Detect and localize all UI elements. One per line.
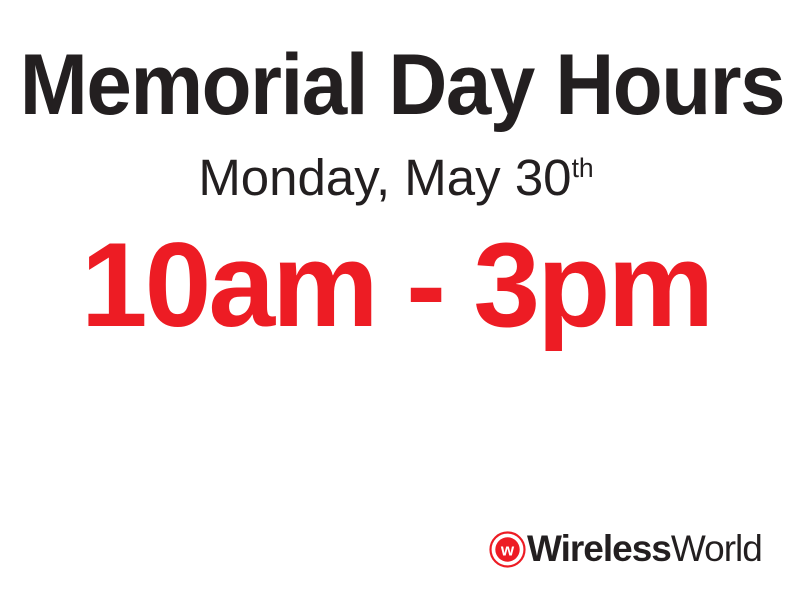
wireless-world-w-icon: w xyxy=(489,531,526,568)
poster-canvas: Memorial Day Hours Monday, May 30th 10am… xyxy=(0,0,792,612)
page-title: Memorial Day Hours xyxy=(20,42,772,128)
brand-wordmark: WirelessWorld xyxy=(527,530,762,567)
brand-logo: w WirelessWorld xyxy=(489,528,762,570)
subtitle-date: Monday, May 30th xyxy=(0,152,792,203)
svg-text:w: w xyxy=(500,540,515,559)
brand-wordmark-secondary: World xyxy=(671,528,762,569)
brand-wordmark-primary: Wireless xyxy=(527,528,671,569)
hours-text: 10am - 3pm xyxy=(0,225,792,345)
subtitle-ordinal-suffix: th xyxy=(572,153,594,183)
subtitle-date-text: Monday, May 30 xyxy=(198,149,571,206)
